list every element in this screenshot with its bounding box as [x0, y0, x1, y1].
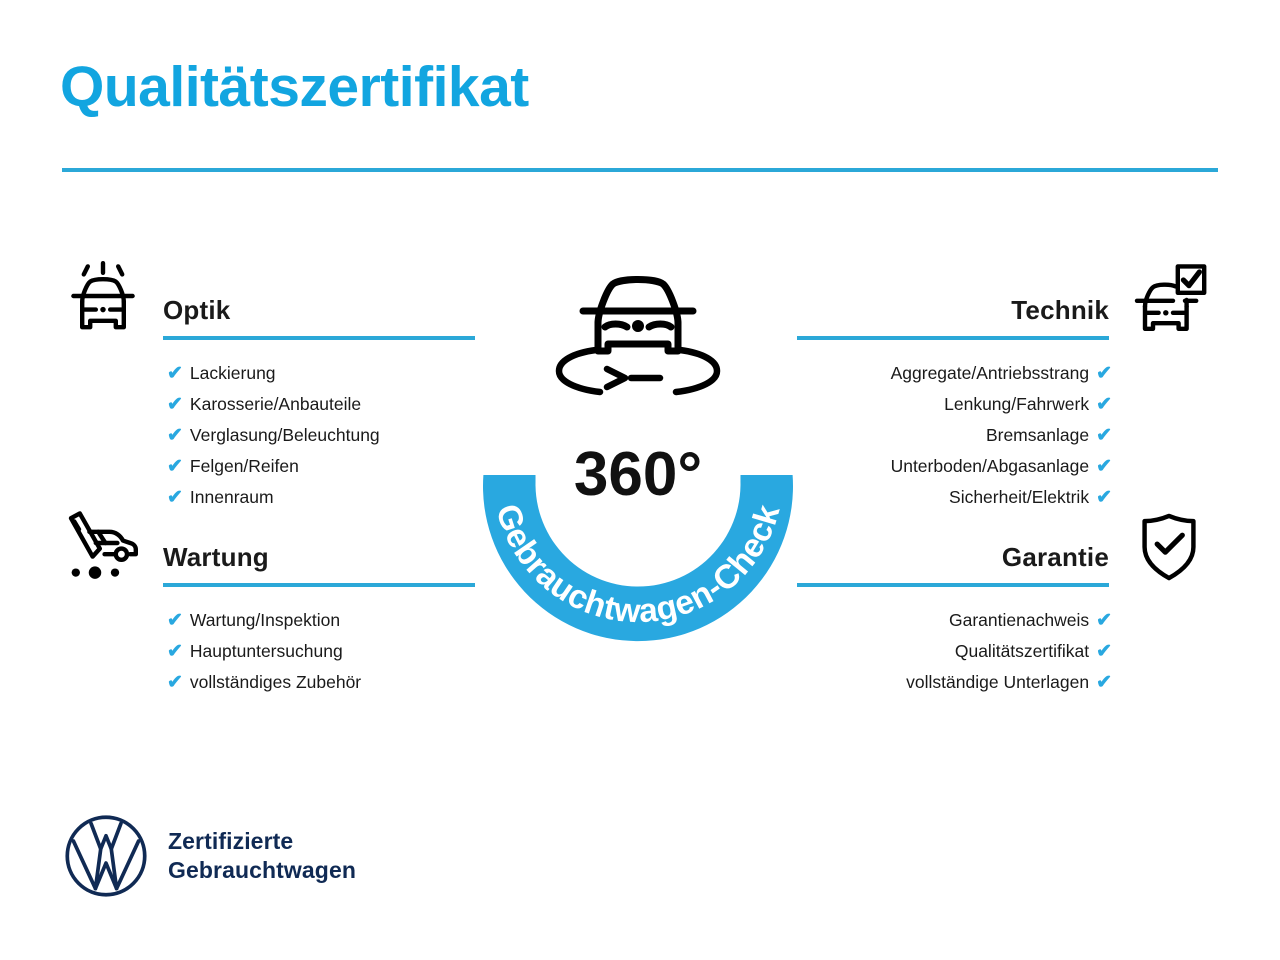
shield-check-icon — [1126, 507, 1212, 587]
section-underline — [797, 583, 1109, 587]
badge-center-label: 360° — [574, 440, 702, 509]
list-item-label: Unterboden/Abgasanlage — [891, 456, 1090, 476]
section-optik: Optik ✔Lackierung ✔Karosserie/Anbauteile… — [56, 258, 476, 513]
360-check-badge: Gebrauchtwagen-Check 360° — [455, 247, 821, 647]
check-icon: ✔ — [1096, 606, 1112, 636]
list-item: ✔Hauptuntersuchung — [167, 636, 476, 667]
list-item-label: vollständige Unterlagen — [906, 672, 1089, 692]
list-item-label: vollständiges Zubehör — [190, 672, 361, 692]
section-header: Wartung — [56, 505, 476, 587]
section-title: Garantie — [1002, 542, 1109, 573]
section-wartung: Wartung ✔Wartung/Inspektion ✔Hauptunters… — [56, 505, 476, 698]
check-icon: ✔ — [1096, 668, 1112, 698]
list-item: Lenkung/Fahrwerk✔ — [796, 389, 1112, 420]
brand-line-1: Zertifizierte — [168, 827, 356, 856]
check-icon: ✔ — [167, 359, 183, 389]
list-item: ✔Karosserie/Anbauteile — [167, 389, 476, 420]
check-icon: ✔ — [167, 668, 183, 698]
section-underline — [163, 583, 475, 587]
list-item: ✔Felgen/Reifen — [167, 451, 476, 482]
section-technik: Technik Aggregate/Antriebsstrang✔ Lenkun… — [796, 258, 1216, 513]
list-item-label: Garantienachweis — [949, 610, 1089, 630]
list-item: Garantienachweis✔ — [796, 605, 1112, 636]
list-item-label: Bremsanlage — [986, 425, 1089, 445]
car-checkbox-icon — [1126, 260, 1212, 340]
brand-line-2: Gebrauchtwagen — [168, 856, 356, 885]
section-title: Wartung — [163, 542, 269, 573]
section-title: Optik — [163, 295, 230, 326]
check-icon: ✔ — [167, 390, 183, 420]
list-item: ✔vollständiges Zubehör — [167, 667, 476, 698]
page-title: Qualitätszertifikat — [60, 56, 529, 119]
car-rotate-icon — [559, 280, 717, 393]
section-header: Garantie — [796, 505, 1216, 587]
check-icon: ✔ — [167, 452, 183, 482]
section-header: Optik — [56, 258, 476, 340]
section-title: Technik — [1011, 295, 1109, 326]
list-item-label: Karosserie/Anbauteile — [190, 394, 361, 414]
check-icon: ✔ — [167, 421, 183, 451]
list-item-label: Verglasung/Beleuchtung — [190, 425, 380, 445]
brand-text: Zertifizierte Gebrauchtwagen — [168, 827, 356, 886]
brand-lockup: Zertifizierte Gebrauchtwagen — [62, 812, 356, 900]
list-item-label: Felgen/Reifen — [190, 456, 299, 476]
section-underline — [163, 336, 475, 340]
list-item: ✔Verglasung/Beleuchtung — [167, 420, 476, 451]
checklist-wartung: ✔Wartung/Inspektion ✔Hauptuntersuchung ✔… — [56, 605, 476, 698]
checklist-technik: Aggregate/Antriebsstrang✔ Lenkung/Fahrwe… — [796, 358, 1216, 513]
car-shine-icon — [60, 260, 146, 340]
section-underline — [797, 336, 1109, 340]
check-icon: ✔ — [1096, 390, 1112, 420]
list-item: Bremsanlage✔ — [796, 420, 1112, 451]
checklist-garantie: Garantienachweis✔ Qualitätszertifikat✔ v… — [796, 605, 1216, 698]
list-item-label: Hauptuntersuchung — [190, 641, 343, 661]
list-item: Unterboden/Abgasanlage✔ — [796, 451, 1112, 482]
volkswagen-logo — [62, 812, 150, 900]
car-service-pen-icon — [60, 507, 146, 587]
list-item-label: Qualitätszertifikat — [955, 641, 1089, 661]
list-item-label: Lackierung — [190, 363, 276, 383]
title-divider — [62, 168, 1218, 172]
list-item: ✔Lackierung — [167, 358, 476, 389]
list-item-label: Aggregate/Antriebsstrang — [891, 363, 1089, 383]
check-icon: ✔ — [1096, 359, 1112, 389]
check-icon: ✔ — [1096, 452, 1112, 482]
check-icon: ✔ — [167, 606, 183, 636]
check-icon: ✔ — [167, 637, 183, 667]
section-garantie: Garantie Garantienachweis✔ Qualitätszert… — [796, 505, 1216, 698]
list-item-label: Innenraum — [190, 487, 274, 507]
check-icon: ✔ — [1096, 637, 1112, 667]
list-item: vollständige Unterlagen✔ — [796, 667, 1112, 698]
list-item-label: Lenkung/Fahrwerk — [944, 394, 1089, 414]
list-item-label: Sicherheit/Elektrik — [949, 487, 1089, 507]
list-item: ✔Wartung/Inspektion — [167, 605, 476, 636]
section-header: Technik — [796, 258, 1216, 340]
check-icon: ✔ — [1096, 421, 1112, 451]
list-item: Qualitätszertifikat✔ — [796, 636, 1112, 667]
list-item-label: Wartung/Inspektion — [190, 610, 340, 630]
checklist-optik: ✔Lackierung ✔Karosserie/Anbauteile ✔Verg… — [56, 358, 476, 513]
list-item: Aggregate/Antriebsstrang✔ — [796, 358, 1112, 389]
